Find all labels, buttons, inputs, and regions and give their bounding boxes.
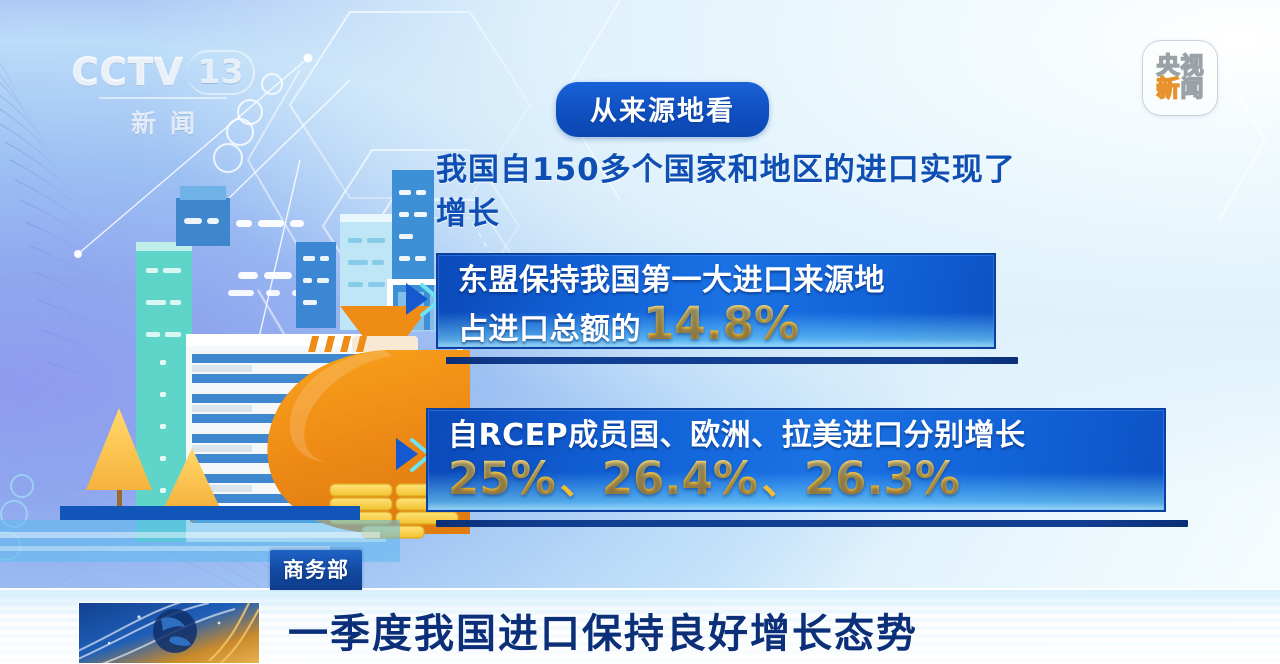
callout-box-asean: 东盟保持我国第一大进口来源地 占进口总额的 14.8% xyxy=(436,253,996,349)
cctv-news-app-logo: 央 视 新 闻 xyxy=(1142,40,1218,116)
cctv-logo-underline xyxy=(99,97,227,99)
callout-rcep-values: 25% 、 26.4% 、 26.3% xyxy=(448,455,1146,504)
intro-paragraph: 我国自150多个国家和地区的进口实现了增长 xyxy=(436,148,1036,236)
lower-third-thumbnail xyxy=(78,602,260,664)
callout-asean-underbar xyxy=(446,357,1018,364)
city-illustration xyxy=(0,160,470,580)
app-logo-row-top: 央 视 xyxy=(1157,55,1204,78)
cctv-channel-number: 13 xyxy=(187,50,255,95)
callout-asean-line1: 东盟保持我国第一大进口来源地 xyxy=(458,263,976,300)
source-department-tag: 商务部 xyxy=(270,550,362,590)
app-logo-char-wen: 闻 xyxy=(1181,78,1204,101)
callout-rcep-value-2: 26.4% xyxy=(602,455,758,504)
callout-box-rcep-panel: 自RCEP成员国、欧洲、拉美进口分别增长 25% 、 26.4% 、 26.3% xyxy=(426,408,1166,512)
callout-rcep-underbar xyxy=(436,520,1188,527)
callout-rcep-line1: 自RCEP成员国、欧洲、拉美进口分别增长 xyxy=(448,418,1146,455)
callout-rcep-separator-2: 、 xyxy=(758,461,804,502)
app-logo-char-xin: 新 xyxy=(1157,78,1180,101)
cctv-logo-letters: CCTV xyxy=(71,51,183,94)
callout-rcep-value-1: 25% xyxy=(448,455,556,504)
callout-asean-value: 14.8% xyxy=(643,300,799,349)
section-header-pill: 从来源地看 xyxy=(556,82,769,137)
callout-rcep-value-3: 26.3% xyxy=(804,455,960,504)
app-logo-row-bottom: 新 闻 xyxy=(1157,78,1204,101)
callout-asean-lead: 占进口总额的 xyxy=(458,314,641,346)
callout-asean-line2: 占进口总额的 14.8% xyxy=(458,300,976,349)
callout-rcep-separator-1: 、 xyxy=(556,461,602,502)
app-logo-char-yang: 央 xyxy=(1157,55,1180,78)
section-header-label: 从来源地看 xyxy=(590,96,735,127)
cctv-logo-row: CCTV 13 xyxy=(78,48,248,96)
source-department-label: 商务部 xyxy=(283,558,349,582)
lower-third-headline: 一季度我国进口保持良好增长态势 xyxy=(288,601,918,659)
callout-box-asean-panel: 东盟保持我国第一大进口来源地 占进口总额的 14.8% xyxy=(436,253,996,349)
globe-graphic-icon xyxy=(79,603,259,663)
cctv-channel-watermark: CCTV 13 新闻 xyxy=(78,48,248,136)
cctv-logo-subtitle: 新闻 xyxy=(78,104,248,140)
broadcast-graphic-stage: CCTV 13 新闻 央 视 新 闻 从来源地看 我国自150多个国家和地区的进… xyxy=(0,0,1280,664)
city-illustration-svg xyxy=(0,160,470,580)
app-logo-char-shi: 视 xyxy=(1181,55,1204,78)
callout-box-rcep: 自RCEP成员国、欧洲、拉美进口分别增长 25% 、 26.4% 、 26.3% xyxy=(426,408,1166,512)
